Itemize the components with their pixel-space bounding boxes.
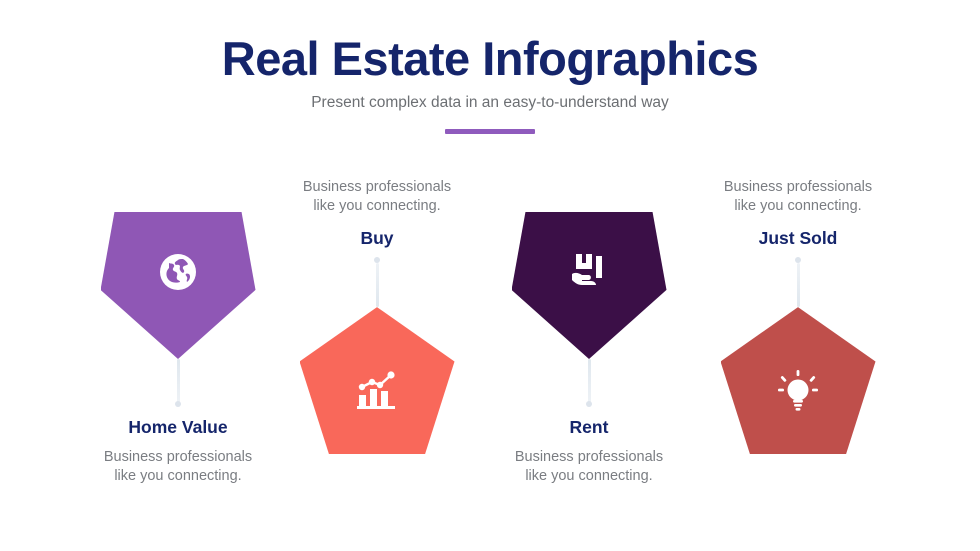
item-description-home-value: Business professionals like you connecti… xyxy=(72,448,284,485)
page-title: Real Estate Infographics xyxy=(0,34,980,85)
item-label-buy: Buy xyxy=(271,228,483,249)
infographic-item-buy[interactable]: Business professionals like you connecti… xyxy=(271,178,483,508)
infographic-slide: Real Estate Infographics Present complex… xyxy=(0,0,980,551)
infographic-columns: Home Value Business professionals like y… xyxy=(0,170,980,530)
accent-divider xyxy=(445,129,535,134)
connector-line-home-value xyxy=(175,359,181,407)
connector-line-rent xyxy=(586,359,592,407)
hand-key-icon xyxy=(512,250,667,292)
connector-stem xyxy=(177,359,180,403)
item-description-buy: Business professionals like you connecti… xyxy=(271,178,483,215)
pentagon-just-sold xyxy=(721,307,876,454)
item-description-rent: Business professionals like you connecti… xyxy=(483,448,695,485)
item-description-just-sold: Business professionals like you connecti… xyxy=(692,178,904,215)
item-label-rent: Rent xyxy=(483,417,695,438)
connector-line-buy xyxy=(374,259,380,307)
lightbulb-icon xyxy=(721,369,876,415)
connector-line-just-sold xyxy=(795,259,801,307)
globe-icon xyxy=(101,250,256,294)
pentagon-rent xyxy=(512,212,667,359)
connector-stem xyxy=(588,359,591,403)
infographic-item-home-value[interactable]: Home Value Business professionals like y… xyxy=(72,212,284,542)
bar-chart-icon xyxy=(300,369,455,411)
connector-dot xyxy=(175,401,181,407)
connector-dot xyxy=(586,401,592,407)
infographic-item-just-sold[interactable]: Business professionals like you connecti… xyxy=(692,178,904,508)
connector-stem xyxy=(376,263,379,307)
item-label-just-sold: Just Sold xyxy=(692,228,904,249)
pentagon-buy xyxy=(300,307,455,454)
pentagon-home-value xyxy=(101,212,256,359)
infographic-item-rent[interactable]: Rent Business professionals like you con… xyxy=(483,212,695,542)
header: Real Estate Infographics Present complex… xyxy=(0,34,980,134)
connector-stem xyxy=(797,263,800,307)
item-label-home-value: Home Value xyxy=(72,417,284,438)
page-subtitle: Present complex data in an easy-to-under… xyxy=(0,94,980,113)
